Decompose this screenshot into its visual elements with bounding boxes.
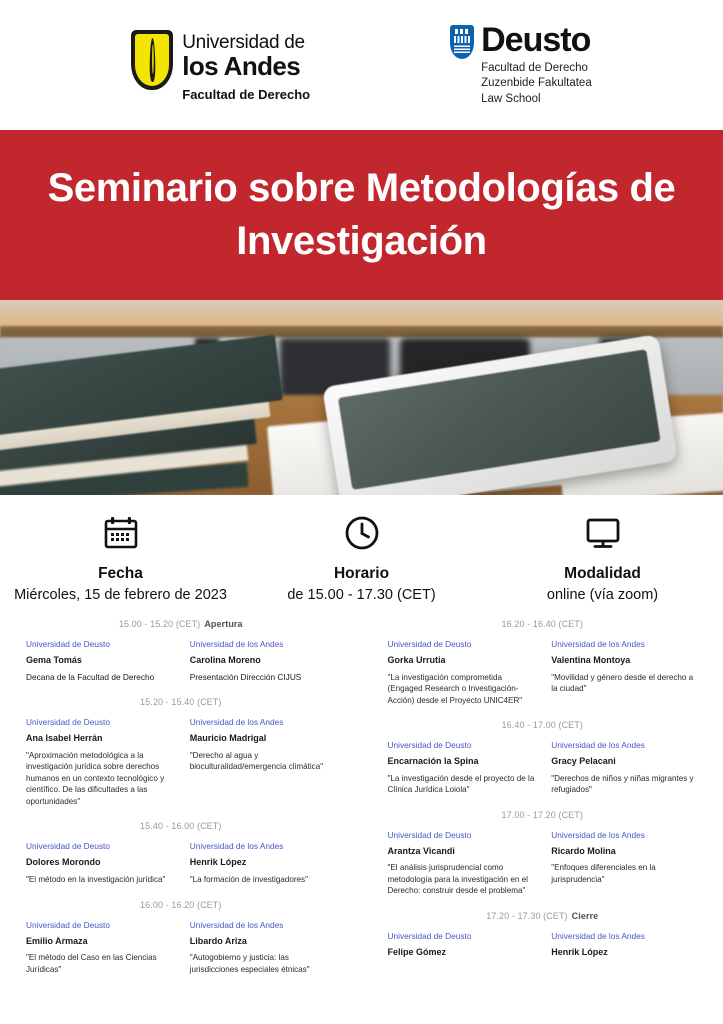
- schedule-entry: Universidad de los AndesHenrik López: [551, 930, 701, 959]
- schedule-block-columns: Universidad de DeustoGema TomásDecana de…: [0, 638, 362, 683]
- schedule-entry: Universidad de los AndesRicardo Molina"E…: [551, 829, 701, 897]
- schedule-time-header: 16.00 - 16.20 (CET): [0, 892, 362, 919]
- deusto-logo-sub3: Law School: [481, 92, 592, 107]
- schedule-time-header: 17.20 - 17.30 (CET)Cierre: [362, 903, 723, 930]
- andes-logo-faculty: Facultad de Derecho: [182, 88, 310, 101]
- entry-speaker-name: Felipe Gómez: [388, 946, 538, 959]
- entry-topic: "El método en la investigación jurídica": [26, 874, 176, 885]
- info-item-horario: Horario de 15.00 - 17.30 (CET): [241, 511, 482, 603]
- schedule-entry: Universidad de los AndesHenrik López"La …: [190, 840, 340, 885]
- schedule-time-range: 16.00 - 16.20 (CET): [140, 900, 221, 910]
- deusto-logo-sub1: Facultad de Derecho: [481, 61, 592, 76]
- schedule-time-header: 17.00 - 17.20 (CET): [362, 802, 723, 829]
- schedule-entry: Universidad de los AndesMauricio Madriga…: [190, 716, 340, 807]
- logo-universidad-de-deusto: Deusto Facultad de Derecho Zuzenbide Fak…: [450, 23, 592, 107]
- deusto-shield-icon: [450, 25, 474, 59]
- header-photo-books-tablet: [0, 300, 723, 495]
- schedule-entry: Universidad de los AndesCarolina MorenoP…: [190, 638, 340, 683]
- schedule-block-columns: Universidad de DeustoFelipe GómezUnivers…: [362, 930, 723, 959]
- info-item-fecha: Fecha Miércoles, 15 de febrero de 2023: [0, 511, 241, 603]
- entry-speaker-name: Henrik López: [551, 946, 701, 959]
- schedule-time-range: 15.20 - 15.40 (CET): [140, 697, 221, 707]
- schedule-time-header: 15.40 - 16.00 (CET): [0, 813, 362, 840]
- entry-speaker-name: Libardo Ariza: [190, 935, 340, 948]
- schedule-time-range: 16.40 - 17.00 (CET): [502, 720, 583, 730]
- schedule-time-range: 15.00 - 15.20 (CET): [119, 619, 200, 629]
- deusto-shield-mid-band: [454, 36, 470, 43]
- schedule-time-range: 16.20 - 16.40 (CET): [502, 619, 583, 629]
- entry-topic: "Enfoques diferenciales en la jurisprude…: [551, 862, 701, 885]
- entry-university: Universidad de los Andes: [190, 840, 340, 852]
- page-title: Seminario sobre Metodologías de Investig…: [0, 162, 723, 268]
- photo-wall: [0, 300, 723, 326]
- schedule-time-range: 15.40 - 16.00 (CET): [140, 821, 221, 831]
- schedule-entry: Universidad de los AndesGracy Pelacani"D…: [551, 739, 701, 796]
- schedule-block: 17.20 - 17.30 (CET)CierreUniversidad de …: [362, 903, 723, 965]
- schedule-entry: Universidad de DeustoEmilio Armaza"El mé…: [26, 919, 176, 976]
- info-value-fecha: Miércoles, 15 de febrero de 2023: [14, 587, 227, 603]
- info-label-fecha: Fecha: [98, 565, 143, 583]
- schedule-entry: Universidad de DeustoGorka Urrutia"La in…: [388, 638, 538, 706]
- logo-universidad-de-los-andes: Universidad de los Andes Facultad de Der…: [131, 30, 310, 101]
- entry-university: Universidad de los Andes: [190, 716, 340, 728]
- info-label-horario: Horario: [334, 565, 389, 583]
- info-value-modalidad: online (vía zoom): [547, 587, 658, 603]
- andes-shield-icon: [131, 30, 173, 90]
- entry-university: Universidad de Deusto: [26, 919, 176, 931]
- seminar-poster: Universidad de los Andes Facultad de Der…: [0, 0, 723, 1024]
- entry-university: Universidad de los Andes: [190, 919, 340, 931]
- entry-speaker-name: Dolores Morondo: [26, 856, 176, 869]
- schedule-time-header: 16.20 - 16.40 (CET): [362, 611, 723, 638]
- schedule-entry: Universidad de los AndesValentina Montoy…: [551, 638, 701, 706]
- schedule-block: 15.40 - 16.00 (CET)Universidad de Deusto…: [0, 813, 362, 891]
- schedule-block-columns: Universidad de DeustoGorka Urrutia"La in…: [362, 638, 723, 706]
- entry-university: Universidad de los Andes: [190, 638, 340, 650]
- entry-topic: "Aproximación metodológica a la investig…: [26, 750, 176, 807]
- entry-speaker-name: Gorka Urrutia: [388, 654, 538, 667]
- schedule-block-columns: Universidad de DeustoEncarnación la Spin…: [362, 739, 723, 796]
- schedule-time-range: 17.20 - 17.30 (CET): [486, 911, 567, 921]
- deusto-logo-name: Deusto: [481, 23, 592, 57]
- entry-speaker-name: Mauricio Madrigal: [190, 732, 340, 745]
- entry-university: Universidad de los Andes: [551, 829, 701, 841]
- schedule-block: 16.40 - 17.00 (CET)Universidad de Deusto…: [362, 712, 723, 802]
- schedule-entry: Universidad de DeustoEncarnación la Spin…: [388, 739, 538, 796]
- schedule-column-right: 16.20 - 16.40 (CET)Universidad de Deusto…: [362, 611, 723, 964]
- entry-speaker-name: Arantza Vicandi: [388, 845, 538, 858]
- deusto-shield-top-band: [455, 29, 469, 34]
- andes-logo-line1: Universidad de: [182, 33, 310, 52]
- schedule-entry: Universidad de DeustoAna Isabel Herrán"A…: [26, 716, 176, 807]
- entry-speaker-name: Gracy Pelacani: [551, 755, 701, 768]
- entry-university: Universidad de Deusto: [26, 638, 176, 650]
- schedule-time-tag: Cierre: [572, 911, 599, 921]
- schedule-block: 16.20 - 16.40 (CET)Universidad de Deusto…: [362, 611, 723, 712]
- schedule-entry: Universidad de los AndesLibardo Ariza"Au…: [190, 919, 340, 976]
- info-value-horario: de 15.00 - 17.30 (CET): [287, 587, 435, 603]
- entry-topic: "La investigación comprometida (Engaged …: [388, 672, 538, 706]
- title-banner: Seminario sobre Metodologías de Investig…: [0, 130, 723, 300]
- deusto-shield-waves: [454, 45, 470, 53]
- schedule-block: 16.00 - 16.20 (CET)Universidad de Deusto…: [0, 892, 362, 982]
- schedule-entry: Universidad de DeustoFelipe Gómez: [388, 930, 538, 959]
- entry-speaker-name: Valentina Montoya: [551, 654, 701, 667]
- entry-topic: "Autogobierno y justicia: las jurisdicci…: [190, 952, 340, 975]
- schedule-block-columns: Universidad de DeustoArantza Vicandi"El …: [362, 829, 723, 897]
- entry-speaker-name: Encarnación la Spina: [388, 755, 538, 768]
- entry-speaker-name: Ana Isabel Herrán: [26, 732, 176, 745]
- entry-topic: "La investigación desde el proyecto de l…: [388, 773, 538, 796]
- entry-university: Universidad de Deusto: [388, 829, 538, 841]
- schedule-entry: Universidad de DeustoDolores Morondo"El …: [26, 840, 176, 885]
- entry-topic: "El análisis jurisprudencial como metodo…: [388, 862, 538, 896]
- photo-far-desk: [0, 326, 723, 338]
- schedule-block-columns: Universidad de DeustoAna Isabel Herrán"A…: [0, 716, 362, 807]
- schedule-column-left: 15.00 - 15.20 (CET)AperturaUniversidad d…: [0, 611, 362, 981]
- schedule-block: 17.00 - 17.20 (CET)Universidad de Deusto…: [362, 802, 723, 903]
- calendar-icon: [103, 511, 139, 555]
- entry-speaker-name: Gema Tomás: [26, 654, 176, 667]
- schedule-entry: Universidad de DeustoGema TomásDecana de…: [26, 638, 176, 683]
- logo-header: Universidad de los Andes Facultad de Der…: [0, 0, 723, 130]
- entry-speaker-role: Presentación Dirección CIJUS: [190, 672, 340, 684]
- entry-speaker-name: Carolina Moreno: [190, 654, 340, 667]
- entry-topic: "Movilidad y género desde el derecho a l…: [551, 672, 701, 695]
- entry-topic: "La formación de investigadores": [190, 874, 340, 885]
- entry-speaker-name: Emilio Armaza: [26, 935, 176, 948]
- entry-university: Universidad de los Andes: [551, 739, 701, 751]
- schedule-block: 15.20 - 15.40 (CET)Universidad de Deusto…: [0, 689, 362, 813]
- schedule-time-tag: Apertura: [204, 619, 242, 629]
- schedule-time-header: 16.40 - 17.00 (CET): [362, 712, 723, 739]
- info-item-modalidad: Modalidad online (vía zoom): [482, 511, 723, 603]
- entry-university: Universidad de Deusto: [26, 716, 176, 728]
- entry-speaker-name: Ricardo Molina: [551, 845, 701, 858]
- entry-university: Universidad de Deusto: [26, 840, 176, 852]
- entry-topic: "Derecho al agua y bioculturalidad/emerg…: [190, 750, 340, 773]
- schedule-entry: Universidad de DeustoArantza Vicandi"El …: [388, 829, 538, 897]
- entry-university: Universidad de los Andes: [551, 638, 701, 650]
- schedule-block-columns: Universidad de DeustoDolores Morondo"El …: [0, 840, 362, 885]
- monitor-icon: [585, 511, 621, 555]
- entry-speaker-role: Decana de la Facultad de Derecho: [26, 672, 176, 684]
- entry-topic: "El método del Caso en las Ciencias Jurí…: [26, 952, 176, 975]
- event-info-row: Fecha Miércoles, 15 de febrero de 2023 H…: [0, 495, 723, 611]
- schedule-time-range: 17.00 - 17.20 (CET): [502, 810, 583, 820]
- info-label-modalidad: Modalidad: [564, 565, 641, 583]
- clock-icon: [344, 511, 380, 555]
- entry-university: Universidad de Deusto: [388, 739, 538, 751]
- schedule-block-columns: Universidad de DeustoEmilio Armaza"El mé…: [0, 919, 362, 976]
- entry-university: Universidad de Deusto: [388, 930, 538, 942]
- schedule-block: 15.00 - 15.20 (CET)AperturaUniversidad d…: [0, 611, 362, 689]
- entry-speaker-name: Henrik López: [190, 856, 340, 869]
- entry-university: Universidad de los Andes: [551, 930, 701, 942]
- schedule-section: 15.00 - 15.20 (CET)AperturaUniversidad d…: [0, 611, 723, 639]
- schedule-time-header: 15.00 - 15.20 (CET)Apertura: [0, 611, 362, 638]
- schedule-time-header: 15.20 - 15.40 (CET): [0, 689, 362, 716]
- andes-logo-line2: los Andes: [182, 53, 310, 79]
- andes-flame-icon: [149, 38, 155, 82]
- entry-university: Universidad de Deusto: [388, 638, 538, 650]
- deusto-logo-sub2: Zuzenbide Fakultatea: [481, 76, 592, 91]
- entry-topic: "Derechos de niños y niñas migrantes y r…: [551, 773, 701, 796]
